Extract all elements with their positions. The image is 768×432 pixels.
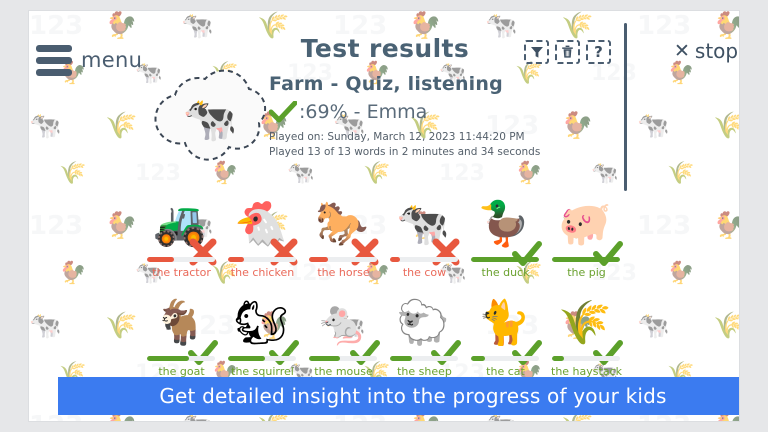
card-label: the tractor	[141, 266, 222, 279]
progress-bar	[228, 356, 296, 361]
result-card[interactable]: 🐁the mouse	[303, 285, 384, 378]
progress-bar-fill	[147, 356, 189, 361]
quiz-info: Farm - Quiz, listening :69% - Emma Playe…	[269, 73, 619, 160]
pig-icon: 🐖	[548, 186, 622, 246]
progress-bar-fill	[390, 257, 400, 262]
progress-bar-fill	[552, 257, 620, 262]
progress-bar	[309, 356, 377, 361]
progress-bar	[471, 257, 539, 262]
help-label: ?	[594, 45, 603, 60]
watermark-glyph: 🐓	[667, 261, 694, 286]
watermark-glyph: 🐄	[637, 311, 669, 341]
results-grid: 🚜the tractor🐔the chicken🐎the horse🐄the c…	[141, 186, 631, 378]
progress-bar-fill	[390, 356, 412, 361]
watermark-glyph: 🌾	[105, 311, 137, 341]
mouse-icon: 🐁	[305, 285, 379, 345]
result-card[interactable]: 🐔the chicken	[222, 186, 303, 279]
haystack-icon: 🌾	[548, 285, 622, 345]
progress-bar	[147, 356, 215, 361]
app-frame: 123🐓🐄🌾123🐓🐄🌾123🐓🐓🐄🌾123🐓🐄🌾123🐓🐄🐄🌾123🐓🐄🌾12…	[0, 0, 768, 432]
progress-bar	[552, 257, 620, 262]
card-label: the chicken	[222, 266, 303, 279]
results-page: 123🐓🐄🌾123🐓🐄🌾123🐓🐓🐄🌾123🐓🐄🌾123🐓🐄🐄🌾123🐓🐄🌾12…	[28, 10, 740, 422]
progress-bar	[147, 257, 215, 262]
progress-bar-fill	[309, 257, 328, 262]
results-row: 🐐the goat🐿the squirrel🐁the mouse🐑the she…	[141, 285, 631, 378]
filter-icon[interactable]	[524, 40, 549, 64]
progress-bar-fill	[228, 356, 265, 361]
vertical-divider	[624, 23, 627, 191]
page-title: Test results	[29, 34, 740, 63]
watermark-glyph: 123	[29, 211, 83, 241]
result-card[interactable]: 🐐the goat	[141, 285, 222, 378]
progress-bar-fill	[228, 257, 244, 262]
result-card[interactable]: 🦆the duck	[465, 186, 546, 279]
watermark-glyph: 🌾	[713, 111, 740, 141]
result-card[interactable]: 🌾the haystack	[546, 285, 627, 378]
stop-button[interactable]: ✕ stop	[674, 39, 738, 63]
promo-banner-text: Get detailed insight into the progress o…	[159, 384, 666, 408]
played-words-text: Played 13 of 13 words in 2 minutes and 3…	[269, 145, 619, 160]
green-check-icon	[269, 101, 297, 123]
watermark-glyph: 🐓	[515, 161, 542, 186]
watermark-glyph: 🐓	[59, 261, 86, 286]
result-card[interactable]: 🐈the cat	[465, 285, 546, 378]
progress-bar	[309, 257, 377, 262]
watermark-glyph: 🐓	[105, 211, 137, 241]
card-label: the duck	[465, 266, 546, 279]
cow-icon: 🐄	[171, 91, 249, 149]
progress-bar-fill	[552, 356, 564, 361]
card-label: the cow	[384, 266, 465, 279]
watermark-glyph: 🐓	[667, 61, 694, 86]
result-card[interactable]: 🐿the squirrel	[222, 285, 303, 378]
watermark-glyph: 123	[637, 211, 691, 241]
watermark-glyph: 🌾	[363, 161, 390, 186]
help-icon[interactable]: ?	[586, 40, 611, 64]
watermark-glyph: 🐄	[287, 161, 314, 186]
played-on-text: Played on: Sunday, March 12, 2023 11:44:…	[269, 130, 619, 145]
sheep-icon: 🐑	[386, 285, 460, 345]
progress-bar	[390, 257, 458, 262]
watermark-glyph: 🐄	[591, 161, 618, 186]
watermark-glyph: 🌾	[59, 161, 86, 186]
result-card[interactable]: 🐑the sheep	[384, 285, 465, 378]
watermark-glyph: 🌾	[713, 311, 740, 341]
score-text: :69% - Emma	[299, 101, 427, 123]
progress-bar	[471, 356, 539, 361]
results-row: 🚜the tractor🐔the chicken🐎the horse🐄the c…	[141, 186, 631, 279]
score-row: :69% - Emma	[269, 101, 619, 123]
watermark-glyph: 🐓	[713, 211, 740, 241]
result-card[interactable]: 🚜the tractor	[141, 186, 222, 279]
watermark-glyph: 🌾	[667, 161, 694, 186]
watermark-glyph: 🐄	[29, 111, 61, 141]
trash-icon[interactable]	[555, 40, 580, 64]
toolbar-icons: ?	[524, 40, 611, 64]
watermark-glyph: 🌾	[105, 111, 137, 141]
close-x-icon: ✕	[674, 42, 690, 61]
progress-bar	[552, 356, 620, 361]
progress-bar	[390, 356, 458, 361]
watermark-glyph: 123	[439, 161, 485, 186]
result-card[interactable]: 🐎the horse	[303, 186, 384, 279]
squirrel-icon: 🐿	[224, 285, 298, 345]
progress-bar-fill	[471, 356, 485, 361]
progress-bar-fill	[309, 356, 340, 361]
progress-bar-fill	[471, 257, 539, 262]
stop-label: stop	[695, 39, 738, 63]
duck-icon: 🦆	[467, 186, 541, 246]
result-card[interactable]: 🐄the cow	[384, 186, 465, 279]
card-label: the pig	[546, 266, 627, 279]
promo-banner: Get detailed insight into the progress o…	[58, 377, 740, 415]
cat-icon: 🐈	[467, 285, 541, 345]
watermark-glyph: 🐄	[29, 311, 61, 341]
goat-icon: 🐐	[143, 285, 217, 345]
quiz-title: Farm - Quiz, listening	[269, 73, 619, 95]
watermark-glyph: 🐄	[637, 111, 669, 141]
progress-bar-fill	[147, 257, 174, 262]
quiz-thumbnail[interactable]: 🐄	[141, 65, 276, 170]
result-card[interactable]: 🐖the pig	[546, 186, 627, 279]
card-label: the horse	[303, 266, 384, 279]
progress-bar	[228, 257, 296, 262]
